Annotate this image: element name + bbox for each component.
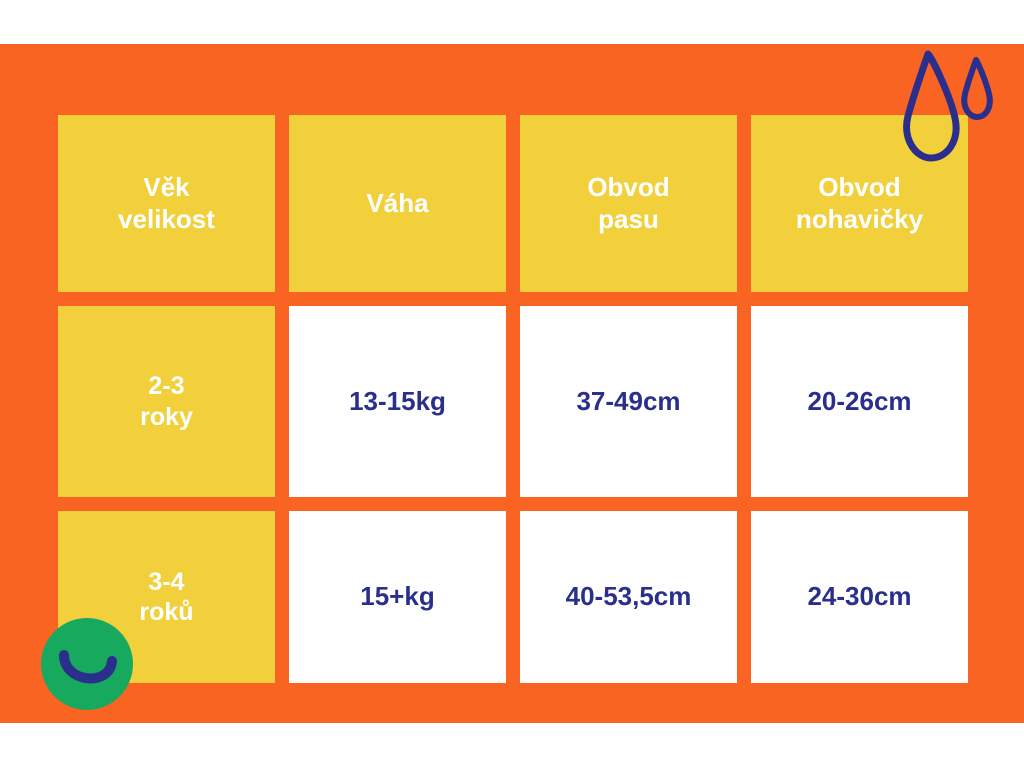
header-label: Věk velikost <box>118 172 215 235</box>
table-row: 37-49cm <box>520 306 737 497</box>
cell-age-value: 2-3 roky <box>140 371 193 432</box>
table-header-leg: Obvod nohavičky <box>751 115 968 292</box>
header-label: Obvod nohavičky <box>796 172 923 235</box>
size-chart-table: Věk velikost Váha Obvod pasu Obvod nohav… <box>58 115 968 683</box>
table-header-waist: Obvod pasu <box>520 115 737 292</box>
cell-leg-value: 24-30cm <box>807 581 911 613</box>
cell-waist-value: 37-49cm <box>576 386 680 418</box>
cell-waist-value: 40-53,5cm <box>566 581 692 613</box>
table-row: 3-4 roků <box>58 511 275 683</box>
table-row: 40-53,5cm <box>520 511 737 683</box>
header-label: Váha <box>366 188 428 220</box>
table-header-weight: Váha <box>289 115 506 292</box>
table-row: 2-3 roky <box>58 306 275 497</box>
orange-canvas: Věk velikost Váha Obvod pasu Obvod nohav… <box>0 44 1024 723</box>
cell-weight-value: 13-15kg <box>349 386 446 418</box>
table-row: 20-26cm <box>751 306 968 497</box>
cell-age-value: 3-4 roků <box>139 567 193 628</box>
header-label: Obvod pasu <box>587 172 669 235</box>
table-row: 15+kg <box>289 511 506 683</box>
table-row: 24-30cm <box>751 511 968 683</box>
table-header-age-size: Věk velikost <box>58 115 275 292</box>
cell-leg-value: 20-26cm <box>807 386 911 418</box>
page-root: Věk velikost Váha Obvod pasu Obvod nohav… <box>0 0 1024 768</box>
table-row: 13-15kg <box>289 306 506 497</box>
cell-weight-value: 15+kg <box>360 581 434 613</box>
